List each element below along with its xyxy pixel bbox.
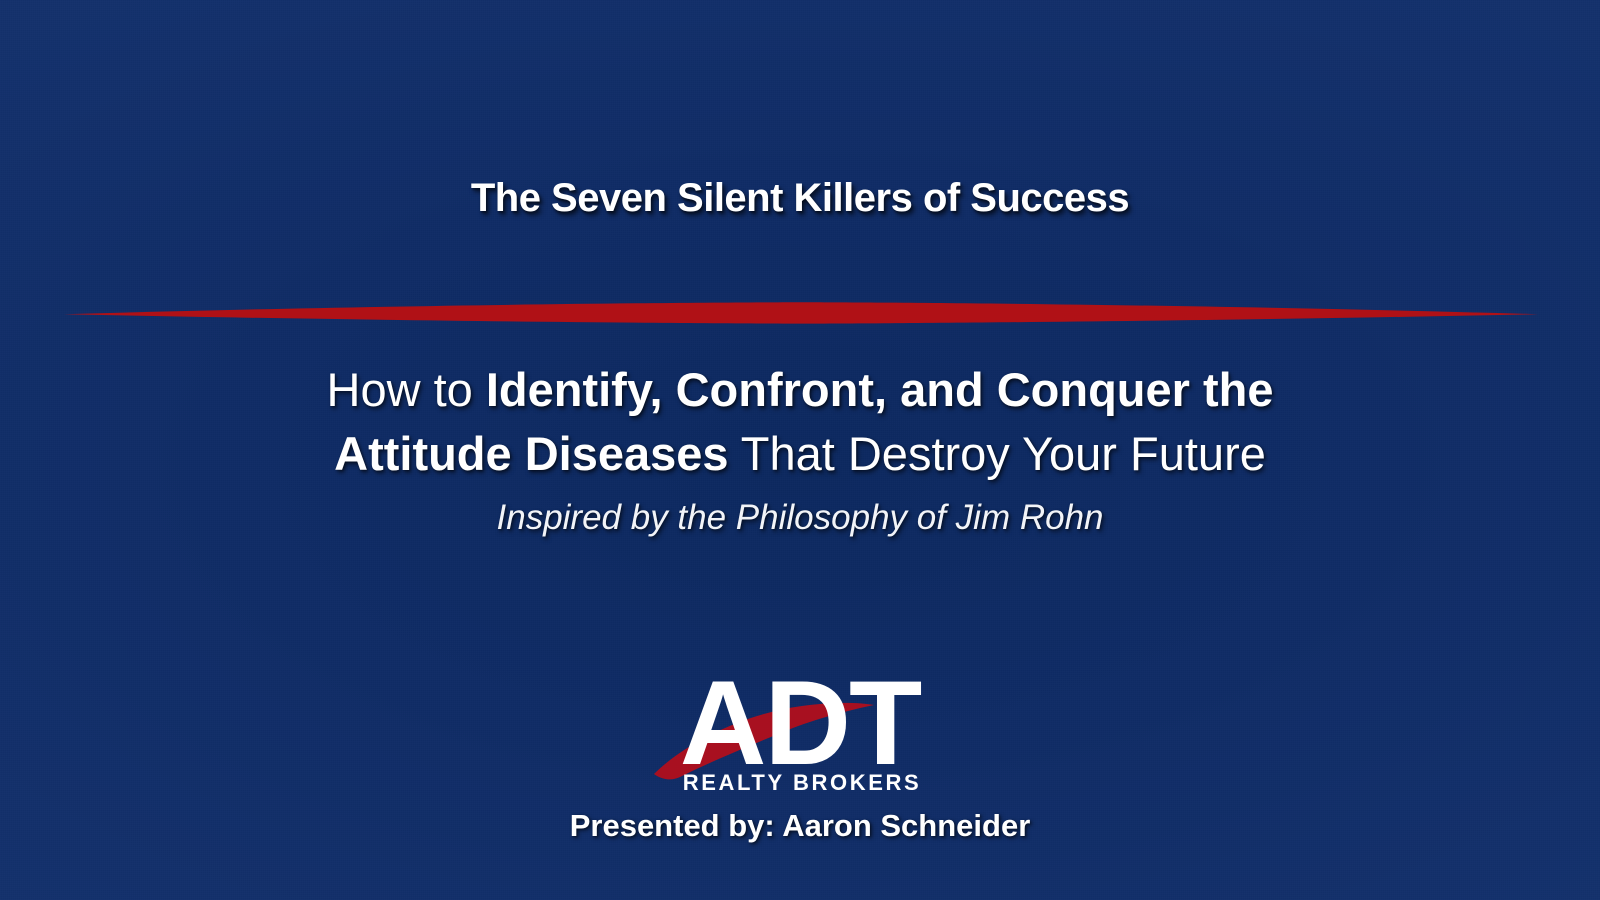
slide-title: The Seven Silent Killers of Success — [0, 178, 1600, 219]
subtitle-line-1-regular: How to — [327, 363, 486, 416]
title-slide: The Seven Silent Killers of Success How … — [0, 0, 1600, 900]
red-accent-rule — [64, 300, 1538, 326]
red-accent-rule-shape — [64, 300, 1538, 326]
adt-tagline: REALTY BROKERS — [683, 770, 922, 795]
attribution-line: Inspired by the Philosophy of Jim Rohn — [0, 498, 1600, 538]
presenter-line: Presented by: Aaron Schneider — [0, 808, 1600, 844]
subtitle-line-2-regular: That Destroy Your Future — [729, 427, 1266, 480]
slide-subtitle: How to Identify, Confront, and Conquer t… — [0, 358, 1600, 486]
company-logo-inner: ADT REALTY BROKERS — [650, 648, 950, 796]
subtitle-line-2-bold: Attitude Diseases — [334, 427, 728, 480]
company-logo: ADT REALTY BROKERS — [0, 648, 1600, 796]
red-accent-rule-fill — [64, 302, 1538, 323]
subtitle-line-2: Attitude Diseases That Destroy Your Futu… — [0, 422, 1600, 486]
subtitle-line-1: How to Identify, Confront, and Conquer t… — [0, 358, 1600, 422]
subtitle-line-1-bold: Identify, Confront, and Conquer the — [486, 363, 1274, 416]
adt-logo-graphic: ADT REALTY BROKERS — [650, 648, 950, 796]
